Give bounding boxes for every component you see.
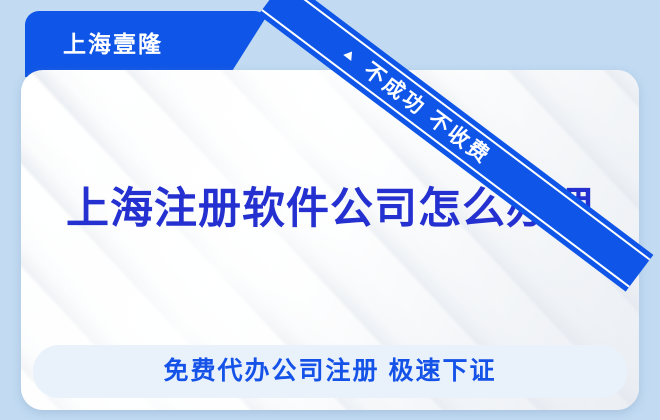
content-card: 上海注册软件公司怎么办理 免费代办公司注册 极速下证 xyxy=(21,70,639,410)
brand-tab: 上海壹隆 xyxy=(25,11,270,77)
footer-pill-label: 免费代办公司注册 极速下证 xyxy=(164,359,497,384)
triangle-up-icon xyxy=(343,49,356,61)
brand-tab-label: 上海壹隆 xyxy=(63,33,163,56)
footer-pill: 免费代办公司注册 极速下证 xyxy=(33,345,627,398)
promo-banner: 上海壹隆 上海注册软件公司怎么办理 免费代办公司注册 极速下证 不成功 不收费 xyxy=(0,0,660,420)
